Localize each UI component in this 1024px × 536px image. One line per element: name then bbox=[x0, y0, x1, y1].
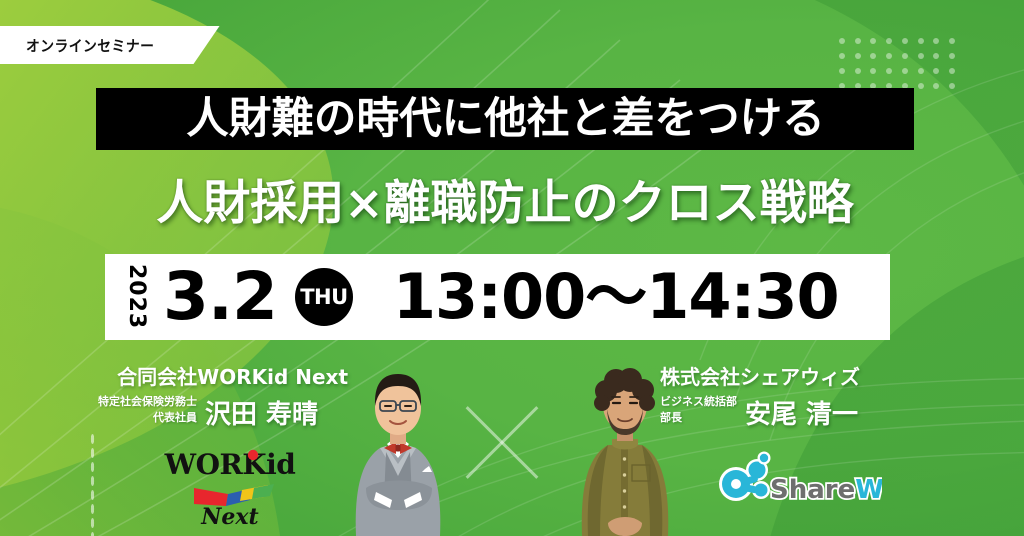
speaker-left-title-line2: 代表社員 bbox=[98, 410, 197, 426]
speaker-left-company: 合同会社WORKid Next bbox=[98, 366, 348, 388]
seminar-type-tag: オンラインセミナー bbox=[0, 26, 220, 64]
headline-secondary: 人財採用×離職防止のクロス戦略 bbox=[96, 172, 914, 234]
headline-primary-bar: 人財難の時代に他社と差をつける bbox=[96, 88, 914, 150]
workid-logo-wordmark: WORKid bbox=[164, 448, 296, 481]
schedule-day-of-week-badge: THU bbox=[295, 268, 353, 326]
headline-line2: 人財採用×離職防止のクロス戦略 bbox=[156, 180, 853, 227]
speaker-right-company: 株式会社シェアウィズ bbox=[660, 366, 910, 388]
speaker-left-info: 合同会社WORKid Next 特定社会保険労務士 代表社員 沢田 寿晴 bbox=[98, 366, 348, 428]
workid-logo-next: Next bbox=[200, 504, 258, 528]
speaker-left-photo bbox=[332, 360, 464, 536]
speaker-left-name: 沢田 寿晴 bbox=[205, 402, 318, 428]
dotted-rule-decoration bbox=[90, 432, 95, 536]
speaker-right-titles: ビジネス統括部 部長 bbox=[660, 394, 737, 428]
headline-line1: 人財難の時代に他社と差をつける bbox=[186, 98, 825, 141]
speaker-right-name: 安尾 清一 bbox=[745, 402, 858, 428]
sharewis-wordmark-share: ShareWis bbox=[770, 475, 882, 505]
speaker-right-info: 株式会社シェアウィズ ビジネス統括部 部長 安尾 清一 bbox=[660, 366, 910, 428]
speaker-right-title-line1: ビジネス統括部 bbox=[660, 394, 737, 410]
webinar-banner: オンラインセミナー 人財難の時代に他社と差をつける 人財採用×離職防止のクロス戦… bbox=[0, 0, 1024, 536]
seminar-type-label: オンラインセミナー bbox=[26, 35, 154, 56]
speaker-left-titles: 特定社会保険労務士 代表社員 bbox=[98, 394, 197, 428]
speaker-right-title-line2: 部長 bbox=[660, 410, 737, 426]
cross-symbol-icon bbox=[452, 392, 552, 492]
workid-logo-dot bbox=[248, 450, 258, 460]
speaker-left-title-line1: 特定社会保険労務士 bbox=[98, 394, 197, 410]
schedule-bar: 2023 3.2 THU 13:00〜14:30 bbox=[105, 254, 890, 340]
sharewis-logo: ShareWis bbox=[712, 450, 882, 512]
schedule-date: 3.2 bbox=[163, 264, 277, 330]
sharewis-mark-icon bbox=[719, 452, 771, 502]
workid-next-logo: WORKid Next bbox=[150, 444, 310, 528]
dot-grid-decoration bbox=[834, 33, 960, 93]
schedule-time: 13:00〜14:30 bbox=[393, 266, 839, 328]
schedule-year: 2023 bbox=[125, 264, 147, 329]
